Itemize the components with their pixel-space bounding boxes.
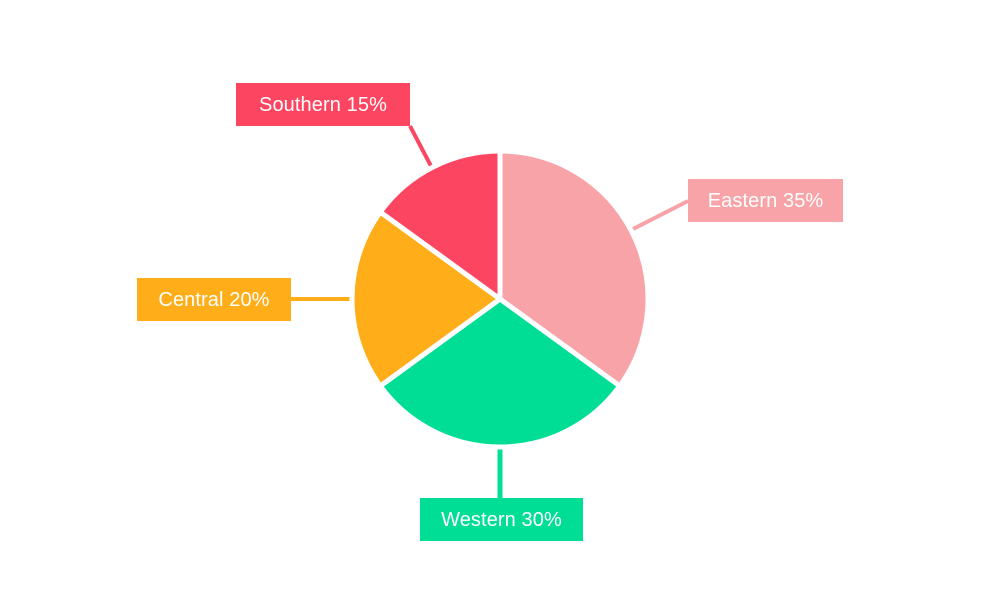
pie-chart-canvas: Southern 15% Eastern 35% Central 20% Wes… [0, 0, 1000, 600]
pie-slice-group [352, 151, 648, 447]
pie-label-southern[interactable]: Southern 15% [236, 83, 410, 126]
leader-line-eastern [633, 201, 688, 229]
leader-line-southern [410, 126, 432, 168]
pie-label-eastern[interactable]: Eastern 35% [688, 179, 843, 222]
pie-label-central[interactable]: Central 20% [137, 278, 291, 321]
pie-label-western[interactable]: Western 30% [420, 498, 583, 541]
